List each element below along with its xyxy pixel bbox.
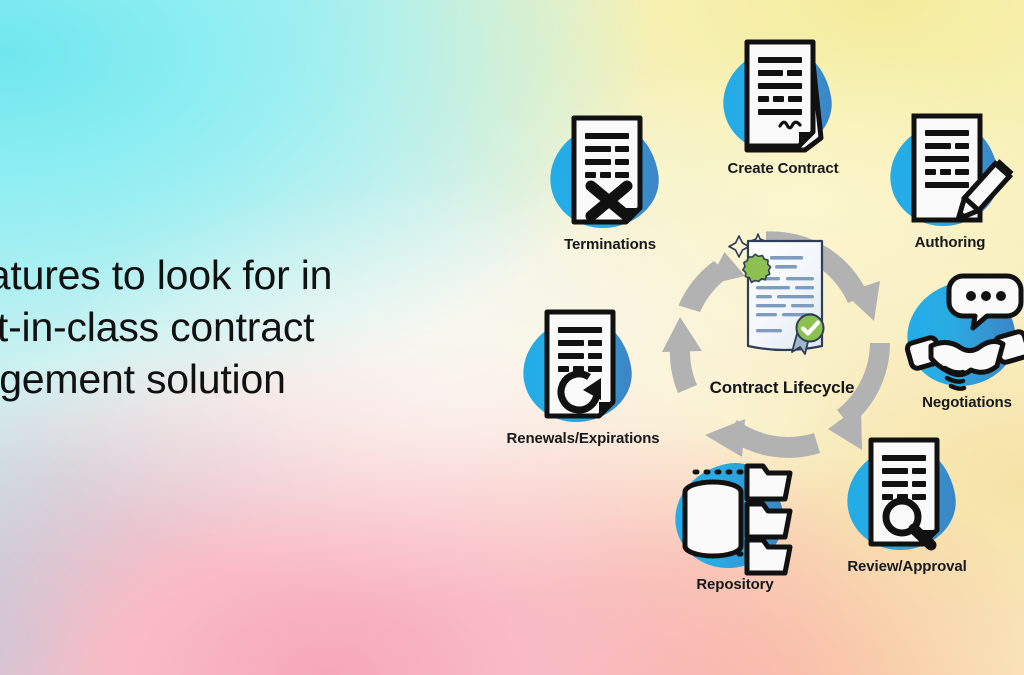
repository-art xyxy=(669,450,801,582)
headline-line-2: est-in-class contract xyxy=(0,301,484,353)
lifecycle-node-negotiations[interactable]: Negotiations xyxy=(882,268,1024,411)
document-magnifier-icon xyxy=(841,432,973,564)
lifecycle-node-renewals[interactable]: Renewals/Expirations xyxy=(498,304,668,447)
slide-canvas: features to look for in est-in-class con… xyxy=(0,0,1024,675)
contract-lifecycle-diagram: Contract Lifecycle xyxy=(470,0,1024,675)
renewals-expirations-art xyxy=(517,304,649,436)
database-folders-icon xyxy=(669,450,801,582)
document-refresh-icon xyxy=(517,304,649,436)
diagram-center-label: Contract Lifecycle xyxy=(648,378,916,398)
create-contract-art xyxy=(717,34,849,166)
handshake-chat-icon xyxy=(901,268,1024,400)
document-signature-icon xyxy=(717,34,849,166)
lifecycle-node-create[interactable]: Create Contract xyxy=(698,34,868,177)
negotiations-art xyxy=(901,268,1024,400)
document-x-icon xyxy=(544,110,676,242)
certificate-document-icon xyxy=(742,238,828,356)
terminations-art xyxy=(544,110,676,242)
document-pencil-icon xyxy=(884,108,1016,240)
lifecycle-node-terminations[interactable]: Terminations xyxy=(525,110,695,253)
authoring-art xyxy=(884,108,1016,240)
lifecycle-node-authoring[interactable]: Authoring xyxy=(865,108,1024,251)
lifecycle-node-review[interactable]: Review/Approval xyxy=(822,432,992,575)
page-title: features to look for in est-in-class con… xyxy=(0,249,484,405)
headline-line-3: nagement solution xyxy=(0,353,484,405)
headline-line-1: features to look for in xyxy=(0,249,484,301)
review-approval-art xyxy=(841,432,973,564)
lifecycle-node-repository[interactable]: Repository xyxy=(650,450,820,593)
